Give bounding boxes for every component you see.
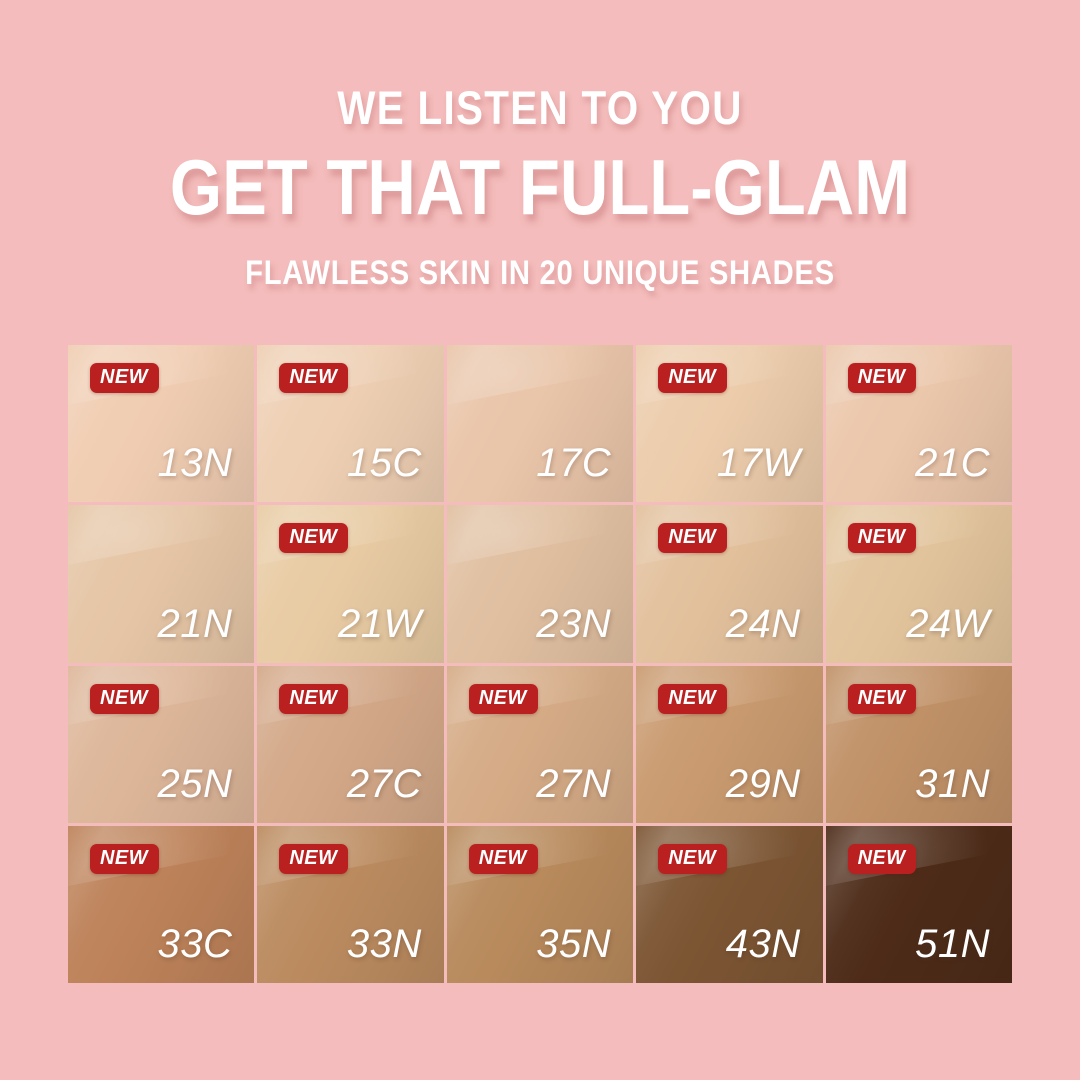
eyebrow-text: WE LISTEN TO YOU [76, 84, 1005, 131]
shade-swatch-13n[interactable]: NEW13N [68, 345, 254, 502]
new-badge: NEW [90, 844, 159, 874]
shade-swatch-17c[interactable]: 17C [447, 345, 633, 502]
shade-code-label: 27C [347, 763, 422, 805]
shade-swatch-27c[interactable]: NEW27C [257, 666, 443, 823]
shade-swatch-21n[interactable]: 21N [68, 505, 254, 662]
new-badge: NEW [279, 523, 348, 553]
shade-swatch-35n[interactable]: NEW35N [447, 826, 633, 983]
new-badge: NEW [279, 684, 348, 714]
shade-code-label: 21N [158, 603, 233, 645]
shade-code-label: 23N [536, 603, 611, 645]
shade-swatch-24n[interactable]: NEW24N [636, 505, 822, 662]
shade-code-label: 15C [347, 442, 422, 484]
shade-code-label: 17W [717, 442, 801, 484]
shade-code-label: 31N [915, 763, 990, 805]
new-badge: NEW [848, 523, 917, 553]
new-badge: NEW [848, 363, 917, 393]
shade-code-label: 25N [158, 763, 233, 805]
new-badge: NEW [658, 844, 727, 874]
shade-code-label: 24N [726, 603, 801, 645]
shade-grid-container: NEW13NNEW15C17CNEW17WNEW21C21NNEW21W23NN… [68, 345, 1012, 983]
shade-code-label: 27N [536, 763, 611, 805]
subtitle-text: FLAWLESS SKIN IN 20 UNIQUE SHADES [76, 256, 1005, 290]
shade-swatch-15c[interactable]: NEW15C [257, 345, 443, 502]
shade-code-label: 17C [536, 442, 611, 484]
shade-code-label: 29N [726, 763, 801, 805]
shade-code-label: 35N [536, 923, 611, 965]
new-badge: NEW [90, 363, 159, 393]
shade-swatch-43n[interactable]: NEW43N [636, 826, 822, 983]
shade-swatch-51n[interactable]: NEW51N [826, 826, 1012, 983]
shade-swatch-29n[interactable]: NEW29N [636, 666, 822, 823]
new-badge: NEW [469, 684, 538, 714]
shade-code-label: 33N [347, 923, 422, 965]
shade-code-label: 33C [158, 923, 233, 965]
new-badge: NEW [279, 844, 348, 874]
page-title: GET THAT FULL-GLAM [76, 148, 1005, 228]
shade-swatch-21w[interactable]: NEW21W [257, 505, 443, 662]
new-badge: NEW [848, 684, 917, 714]
shade-swatch-33n[interactable]: NEW33N [257, 826, 443, 983]
shade-swatch-27n[interactable]: NEW27N [447, 666, 633, 823]
shade-swatch-31n[interactable]: NEW31N [826, 666, 1012, 823]
new-badge: NEW [279, 363, 348, 393]
shade-swatch-33c[interactable]: NEW33C [68, 826, 254, 983]
new-badge: NEW [658, 363, 727, 393]
shade-code-label: 21W [338, 603, 422, 645]
new-badge: NEW [658, 523, 727, 553]
promo-header: WE LISTEN TO YOU GET THAT FULL-GLAM FLAW… [0, 0, 1080, 290]
shade-swatch-17w[interactable]: NEW17W [636, 345, 822, 502]
shade-code-label: 43N [726, 923, 801, 965]
shade-swatch-23n[interactable]: 23N [447, 505, 633, 662]
shade-swatch-21c[interactable]: NEW21C [826, 345, 1012, 502]
shade-swatch-24w[interactable]: NEW24W [826, 505, 1012, 662]
new-badge: NEW [90, 684, 159, 714]
new-badge: NEW [469, 844, 538, 874]
shade-code-label: 24W [906, 603, 990, 645]
shade-swatch-25n[interactable]: NEW25N [68, 666, 254, 823]
new-badge: NEW [658, 684, 727, 714]
shade-code-label: 21C [915, 442, 990, 484]
shade-code-label: 13N [158, 442, 233, 484]
shade-grid: NEW13NNEW15C17CNEW17WNEW21C21NNEW21W23NN… [68, 345, 1012, 983]
new-badge: NEW [848, 844, 917, 874]
shade-code-label: 51N [915, 923, 990, 965]
